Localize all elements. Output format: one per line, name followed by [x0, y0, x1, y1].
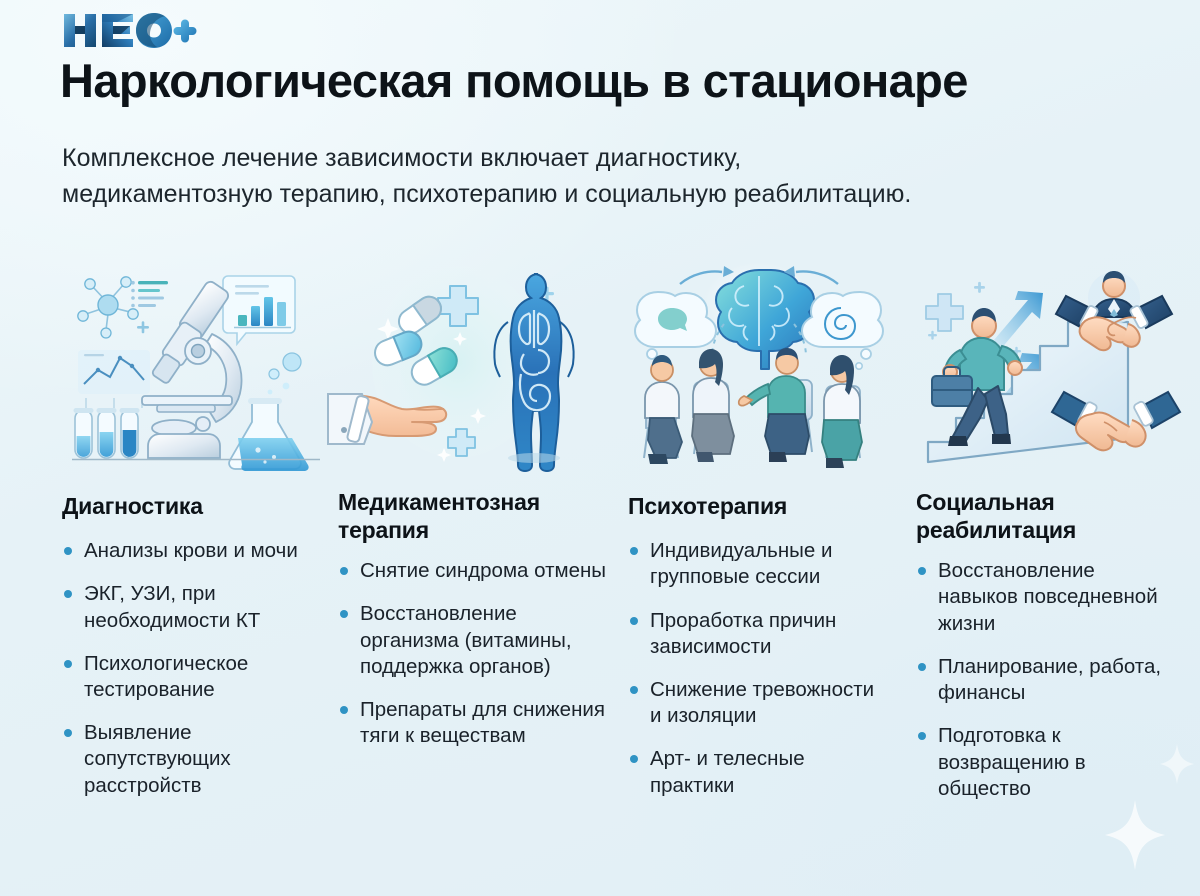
person	[645, 355, 682, 464]
list-item: Индивидуальные и групповые сессии	[628, 538, 890, 590]
list-item: Планирование, работа, финансы	[916, 654, 1178, 706]
person	[739, 348, 809, 462]
line-graph-panel	[78, 350, 150, 408]
list-item: Восстановление организма (витамины, подд…	[338, 601, 610, 680]
list-item: Проработка причин зависимости	[628, 608, 890, 660]
column-bullets: Анализы крови и мочи ЭКГ, УЗИ, при необх…	[62, 538, 334, 799]
plus-icon	[926, 294, 963, 331]
logo-letter-h	[64, 14, 96, 47]
list-item: ЭКГ, УЗИ, при необходимости КТ	[62, 581, 334, 633]
list-item: Препараты для снижения тяги к веществам	[338, 697, 610, 749]
list-item: Психологическое тестирование	[62, 651, 334, 703]
list-item: Восстановление навыков повседневной жизн…	[916, 558, 1178, 637]
column-bullets: Снятие синдрома отмены Восстановление ор…	[338, 558, 610, 749]
list-item: Арт- и телесные практики	[628, 746, 890, 798]
page-subtitle: Комплексное лечение зависимости включает…	[62, 140, 942, 213]
column-bullets: Восстановление навыков повседневной жизн…	[916, 558, 1178, 802]
logo-letter-e	[102, 14, 133, 47]
column-title: Социальная реабилитация	[916, 488, 1178, 544]
service-column-diagnostics: Диагностика Анализы крови и мочи ЭКГ, УЗ…	[62, 262, 334, 816]
person	[822, 355, 862, 468]
column-title: Психотерапия	[628, 492, 890, 520]
person	[692, 349, 734, 462]
list-item: Снятие синдрома отмены	[338, 558, 610, 584]
page-title: Наркологическая помощь в стационаре	[60, 56, 1160, 107]
logo-letter-o	[136, 13, 172, 48]
stairs-handshake-icon	[916, 262, 1178, 470]
microscope-lab-icon	[62, 262, 334, 470]
service-column-social-rehab: Социальная реабилитация Восстановление н…	[916, 262, 1178, 819]
list-item: Подготовка к возвращению в общество	[916, 723, 1178, 802]
test-tubes	[74, 408, 140, 458]
logo-plus-icon	[174, 20, 197, 43]
service-column-medication: Медикаментозная терапия Снятие синдрома …	[338, 262, 610, 767]
heo-plus-logo	[62, 10, 202, 50]
list-item: Выявление сопутствующих расстройств	[62, 720, 334, 799]
column-bullets: Индивидуальные и групповые сессии Прораб…	[628, 538, 890, 799]
service-column-psychotherapy: Психотерапия Индивидуальные и групповые …	[628, 262, 890, 816]
hand-pills-body-icon	[338, 262, 610, 470]
column-title: Диагностика	[62, 492, 334, 520]
brain-icon	[716, 270, 814, 369]
group-of-people	[644, 348, 862, 468]
chart-bubble	[223, 276, 295, 344]
brand-logo	[62, 10, 202, 50]
bubbles	[268, 353, 301, 394]
list-item: Снижение тревожности и изоляции	[628, 677, 890, 729]
column-title: Медикаментозная терапия	[338, 488, 610, 544]
group-therapy-brain-icon	[628, 262, 890, 470]
list-item: Анализы крови и мочи	[62, 538, 334, 564]
